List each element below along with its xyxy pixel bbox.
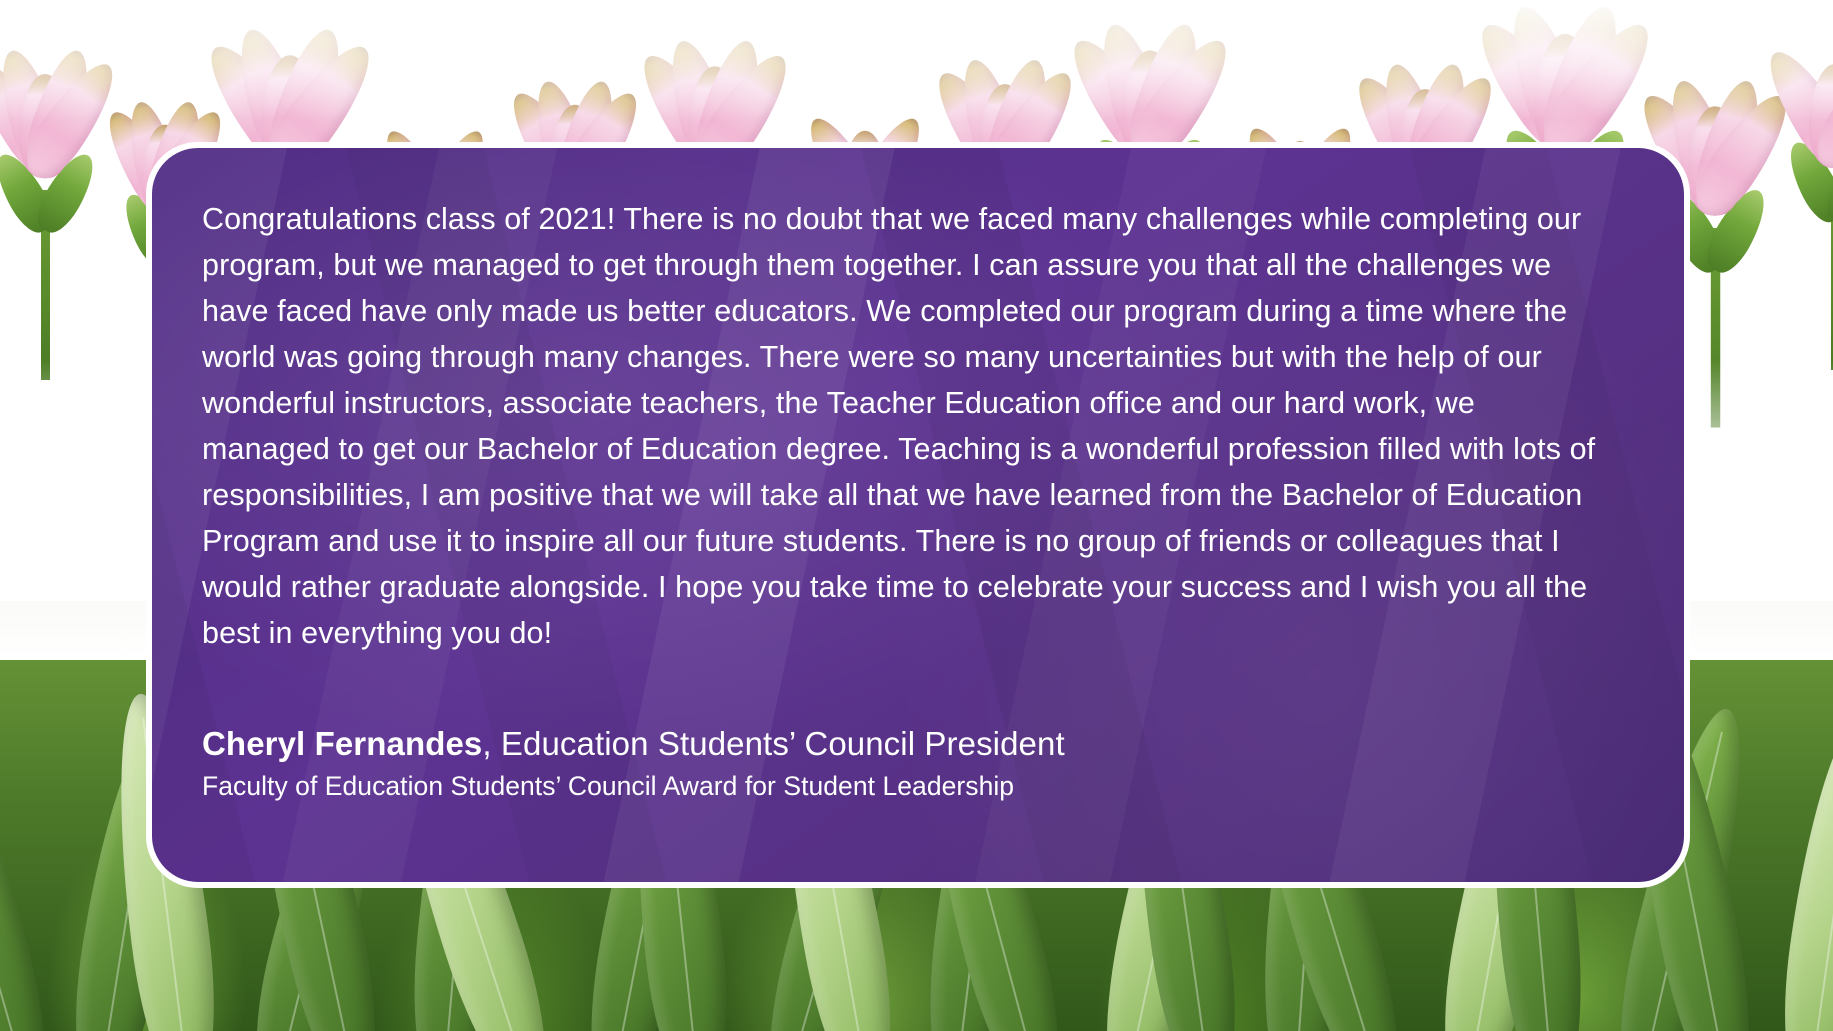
attribution-block: Cheryl Fernandes, Education Students’ Co… bbox=[202, 724, 1628, 804]
graduation-quote-card-page: Congratulations class of 2021! There is … bbox=[0, 0, 1833, 1031]
leaf-shape bbox=[0, 677, 66, 1031]
quote-card: Congratulations class of 2021! There is … bbox=[146, 142, 1690, 888]
attribution-name-role: Cheryl Fernandes, Education Students’ Co… bbox=[202, 724, 1628, 764]
leaf-shape bbox=[1770, 713, 1833, 1031]
quote-card-content: Congratulations class of 2021! There is … bbox=[152, 148, 1684, 804]
attribution-role: , Education Students’ Council President bbox=[482, 725, 1064, 762]
attribution-name: Cheryl Fernandes bbox=[202, 725, 482, 762]
attribution-award: Faculty of Education Students’ Council A… bbox=[202, 768, 1628, 804]
top-white-fade bbox=[0, 0, 1833, 120]
quote-text: Congratulations class of 2021! There is … bbox=[202, 196, 1602, 656]
